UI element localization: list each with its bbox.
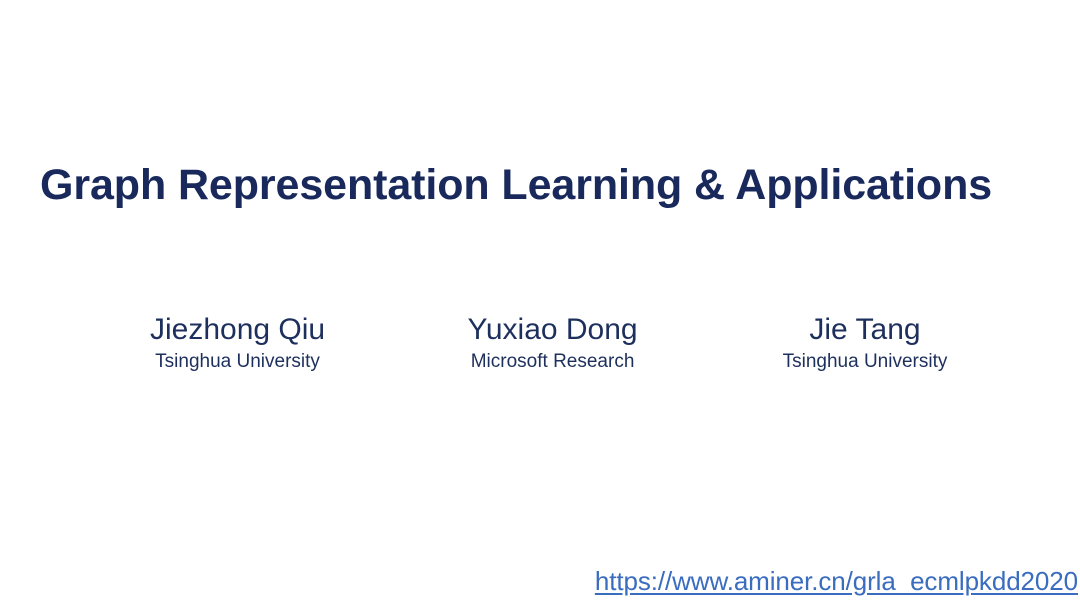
author-name: Yuxiao Dong <box>467 312 637 347</box>
author-entry: Jiezhong Qiu Tsinghua University <box>150 312 325 375</box>
project-url-link[interactable]: https://www.aminer.cn/grla_ecmlpkdd2020 <box>595 566 1078 597</box>
author-entry: Jie Tang Tsinghua University <box>780 312 950 375</box>
author-affiliation: Microsoft Research <box>471 350 635 375</box>
author-name: Jie Tang <box>809 312 920 347</box>
author-affiliation: Tsinghua University <box>155 350 320 375</box>
title-slide: Graph Representation Learning & Applicat… <box>0 0 1080 607</box>
author-list: Jiezhong Qiu Tsinghua University Yuxiao … <box>150 312 950 375</box>
author-entry: Yuxiao Dong Microsoft Research <box>467 312 637 375</box>
author-name: Jiezhong Qiu <box>150 312 325 347</box>
page-title: Graph Representation Learning & Applicat… <box>40 161 1040 209</box>
author-affiliation: Tsinghua University <box>783 350 948 375</box>
